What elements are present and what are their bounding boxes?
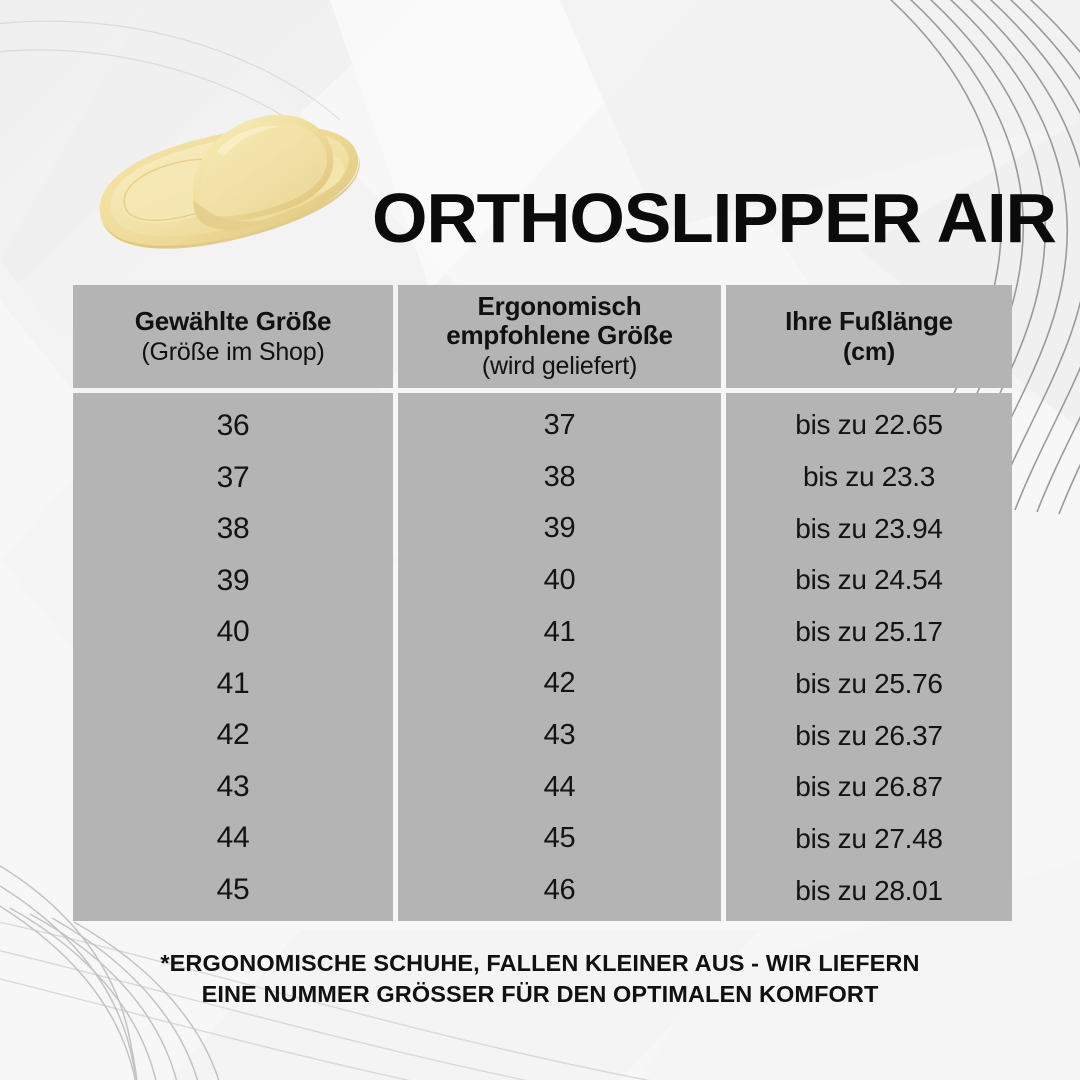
table-cell: bis zu 27.48 (726, 825, 1012, 853)
table-cell: bis zu 23.3 (726, 463, 1012, 491)
header-sub-chosen: (Größe im Shop) (141, 338, 324, 367)
table-cell: 44 (398, 773, 721, 802)
page-title: ORTHOSLIPPER AIR (372, 178, 1053, 258)
footer-note: *ERGONOMISCHE SCHUHE, FALLEN KLEINER AUS… (0, 948, 1080, 1010)
table-cell: 42 (73, 720, 393, 750)
table-cell: 40 (398, 566, 721, 595)
table-cell: bis zu 24.54 (726, 566, 1012, 594)
slipper-sandal-image (58, 96, 398, 286)
table-cell: 37 (73, 463, 393, 493)
table-cell: 36 (73, 411, 393, 441)
table-cell: 43 (398, 721, 721, 750)
table-cell: bis zu 25.76 (726, 670, 1012, 698)
body-column-foot-length: bis zu 22.65bis zu 23.3bis zu 23.94bis z… (726, 393, 1012, 921)
table-cell: 38 (398, 463, 721, 492)
body-column-recommended-size: 37383940414243444546 (398, 393, 721, 921)
header-main-recommended-line1: Ergonomisch (478, 292, 642, 321)
table-cell: 41 (398, 618, 721, 647)
header-sub-foot-length: (cm) (843, 338, 895, 367)
table-cell: 40 (73, 617, 393, 647)
table-cell: bis zu 23.94 (726, 515, 1012, 543)
table-cell: 37 (398, 411, 721, 440)
header-cell-recommended-size: Ergonomisch empfohlene Größe (wird gelie… (398, 285, 721, 388)
header-main-recommended-line2: empfohlene Größe (446, 321, 673, 350)
footer-line-2: EINE NUMMER GRÖSSER FÜR DEN OPTIMALEN KO… (0, 979, 1080, 1010)
table-cell: 39 (73, 566, 393, 596)
header-main-chosen: Gewählte Größe (135, 307, 332, 336)
header-main-foot-length: Ihre Fußlänge (785, 307, 953, 336)
table-cell: 38 (73, 514, 393, 544)
table-cell: bis zu 25.17 (726, 618, 1012, 646)
table-cell: bis zu 22.65 (726, 411, 1012, 439)
table-cell: 43 (73, 772, 393, 802)
size-chart-table: Gewählte Größe (Größe im Shop) Ergonomis… (73, 285, 1012, 921)
footer-line-1: *ERGONOMISCHE SCHUHE, FALLEN KLEINER AUS… (0, 948, 1080, 979)
size-chart-page: ORTHOSLIPPER AIR Gewählte Größe (Größe i… (0, 0, 1080, 1080)
table-body-row: 36373839404142434445 3738394041424344454… (73, 393, 1012, 921)
table-cell: 46 (398, 876, 721, 905)
table-cell: 41 (73, 669, 393, 699)
table-header-row: Gewählte Größe (Größe im Shop) Ergonomis… (73, 285, 1012, 388)
table-cell: 42 (398, 669, 721, 698)
table-cell: 44 (73, 823, 393, 853)
table-cell: 45 (398, 824, 721, 853)
header-cell-foot-length: Ihre Fußlänge (cm) (726, 285, 1012, 388)
table-cell: bis zu 28.01 (726, 877, 1012, 905)
body-column-chosen-size: 36373839404142434445 (73, 393, 393, 921)
table-cell: 39 (398, 514, 721, 543)
table-cell: 45 (73, 875, 393, 905)
table-cell: bis zu 26.37 (726, 722, 1012, 750)
header-sub-recommended: (wird geliefert) (482, 352, 637, 381)
header-cell-chosen-size: Gewählte Größe (Größe im Shop) (73, 285, 393, 388)
table-cell: bis zu 26.87 (726, 773, 1012, 801)
